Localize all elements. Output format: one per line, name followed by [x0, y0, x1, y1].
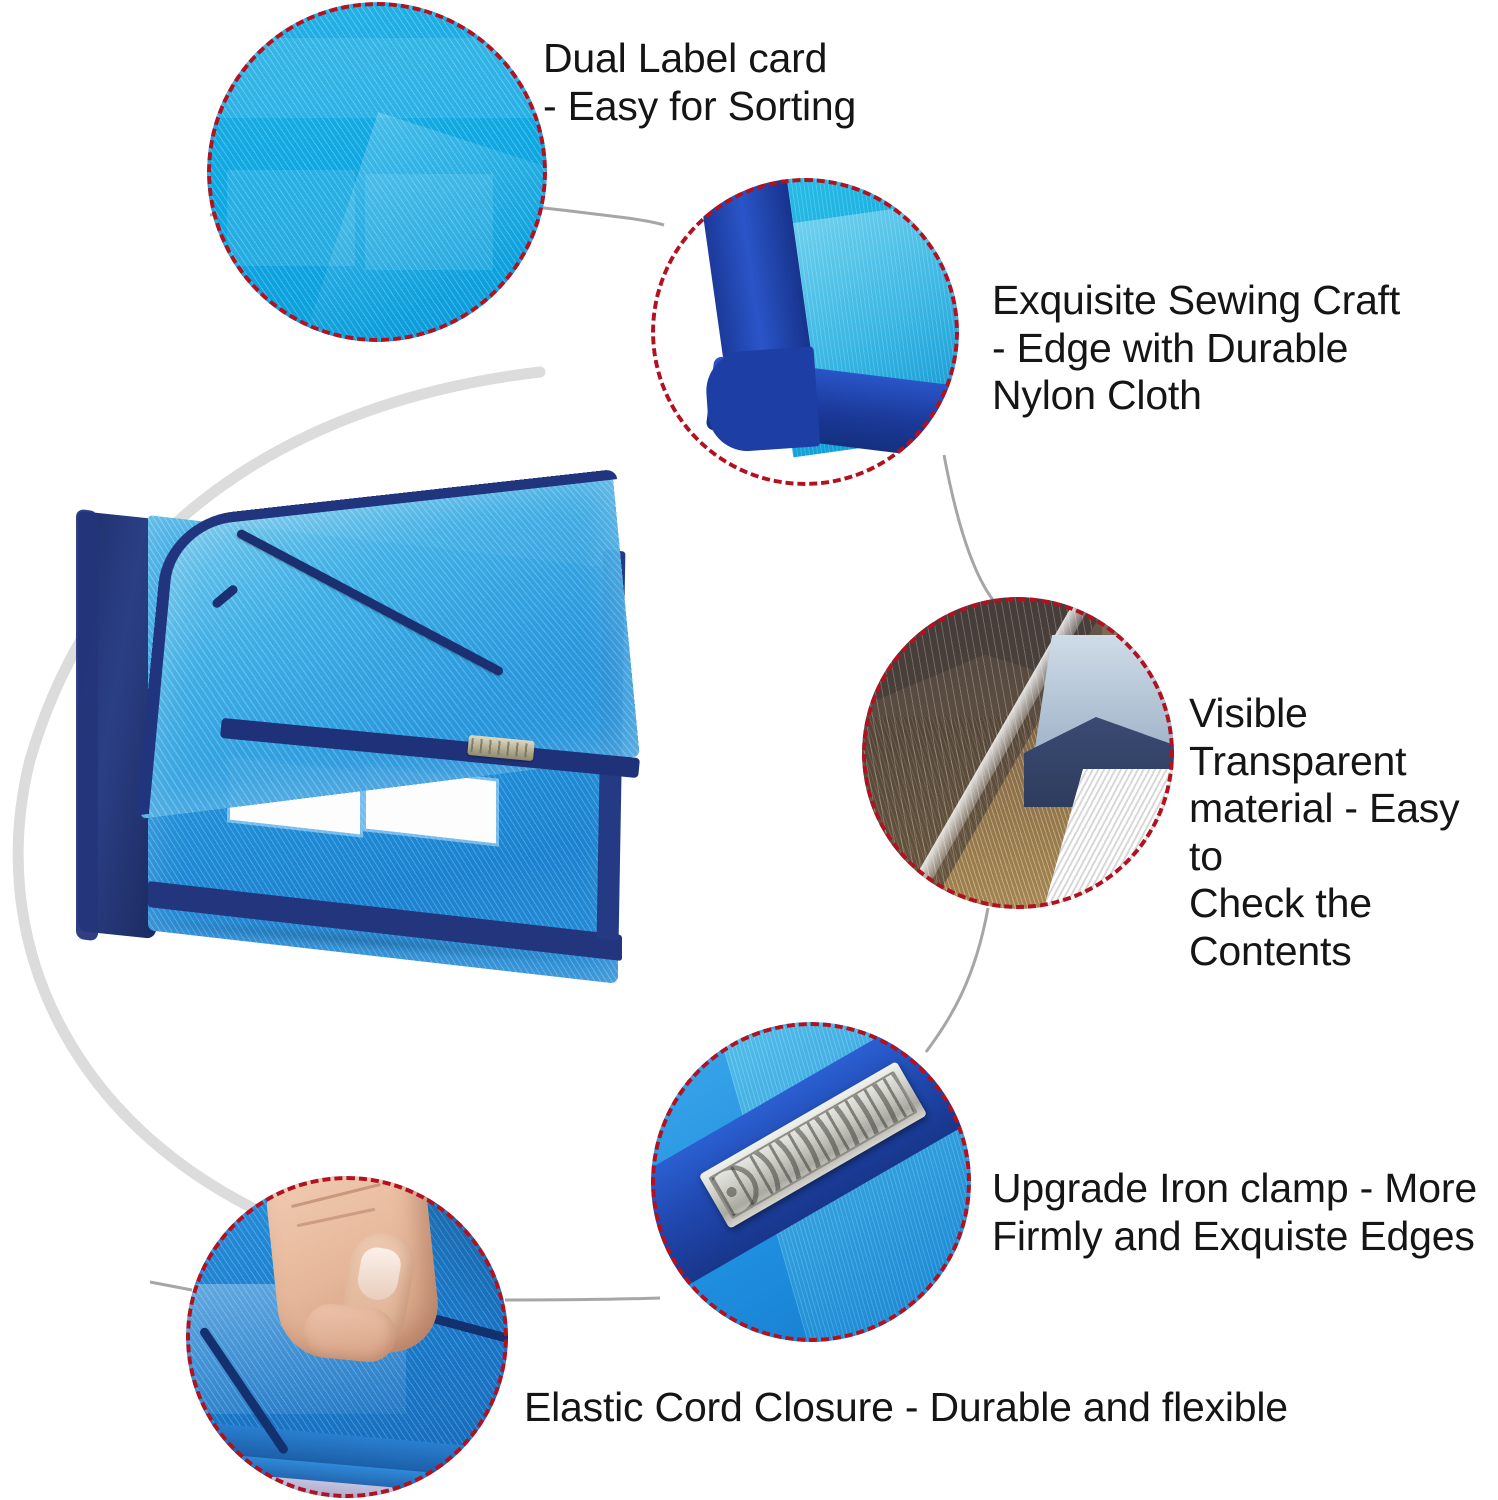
- caption-iron-clamp: Upgrade Iron clamp - More Firmly and Exq…: [992, 1165, 1492, 1260]
- callout-iron-clamp: [651, 1022, 971, 1342]
- caption-elastic-cord: Elastic Cord Closure - Durable and flexi…: [524, 1384, 1404, 1432]
- callout-dual-label-card: [207, 2, 547, 342]
- dashed-ring-4: [651, 1022, 971, 1342]
- connector-line-2: [944, 455, 993, 600]
- product-illustration: [70, 480, 710, 980]
- dashed-ring-1: [207, 2, 547, 342]
- connector-line-4: [505, 1298, 660, 1300]
- product-spine-binding: [76, 509, 98, 941]
- caption-dual-label-card: Dual Label card - Easy for Sorting: [543, 35, 983, 130]
- callout-sewing-craft: [651, 178, 959, 486]
- dashed-ring-2: [651, 178, 959, 486]
- callout-elastic-cord: [186, 1176, 508, 1498]
- dashed-ring-3: [862, 597, 1174, 909]
- caption-sewing-craft: Exquisite Sewing Craft - Edge with Durab…: [992, 277, 1462, 420]
- connector-line-0: [160, 240, 200, 268]
- infographic-canvas: Dual Label card - Easy for Sorting Exqui…: [0, 0, 1498, 1500]
- dashed-ring-5: [186, 1176, 508, 1498]
- caption-transparent-material: Visible Transparent material - Easy to C…: [1189, 690, 1498, 975]
- callout-transparent-material: [862, 597, 1174, 909]
